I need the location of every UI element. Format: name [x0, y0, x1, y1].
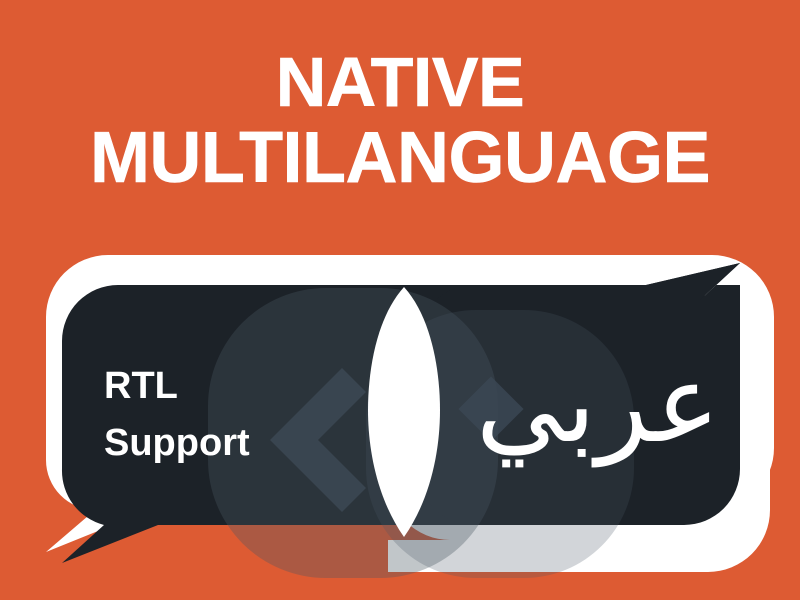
speech-bubbles-illustration: [0, 0, 800, 600]
poster-canvas: NATIVE MULTILANGUAGE: [0, 0, 800, 600]
